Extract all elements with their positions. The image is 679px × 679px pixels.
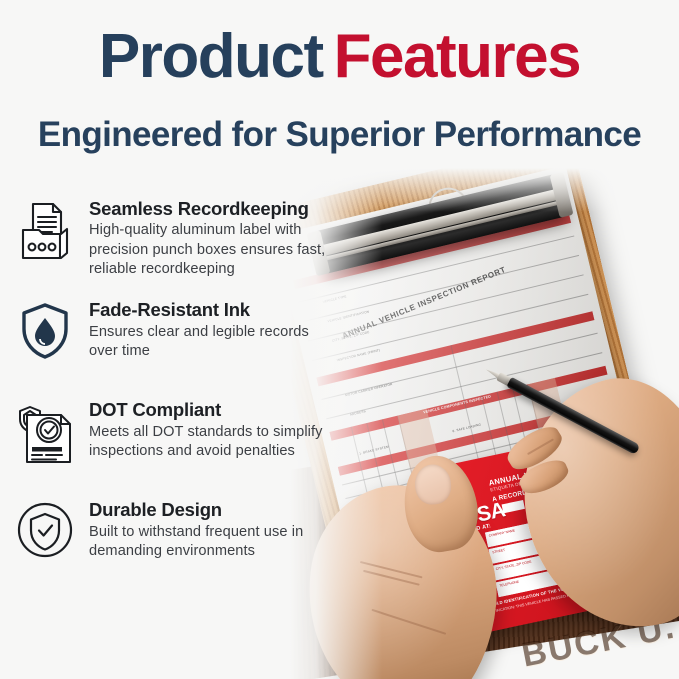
document-filebox-icon bbox=[14, 196, 76, 268]
feature-description: Built to withstand frequent use in deman… bbox=[89, 523, 341, 562]
feature-text: Fade-Resistant Ink Ensures clear and leg… bbox=[89, 297, 341, 361]
product-features-page: ProductFeatures Engineered for Superior … bbox=[0, 0, 679, 679]
page-title-word-product: Product bbox=[99, 22, 323, 91]
feature-text: DOT Compliant Meets all DOT standards to… bbox=[89, 397, 341, 461]
form-title-text: ANNUAL VEHICLE INSPECTION REPORT bbox=[341, 265, 507, 341]
feature-text: Durable Design Built to withstand freque… bbox=[89, 497, 341, 561]
page-subtitle: Engineered for Superior Performance bbox=[0, 116, 679, 155]
feature-description: Ensures clear and legible records over t… bbox=[89, 323, 341, 362]
shield-ink-drop-icon bbox=[14, 297, 76, 369]
feature-title: Durable Design bbox=[89, 499, 341, 520]
form-section-header: VEHICLE COMPONENTS INSPECTED bbox=[423, 394, 492, 414]
feature-item-dot-compliant: DOT Compliant Meets all DOT standards to… bbox=[14, 397, 354, 479]
feature-item-durable-design: Durable Design Built to withstand freque… bbox=[14, 497, 354, 579]
thumbnail bbox=[414, 463, 453, 505]
page-title: ProductFeatures bbox=[0, 26, 679, 88]
document-check-shield-icon bbox=[14, 397, 76, 469]
circle-shield-check-icon bbox=[14, 497, 76, 569]
feature-item-seamless-recordkeeping: Seamless Recordkeeping High-quality alum… bbox=[14, 196, 354, 279]
feature-list: Seamless Recordkeeping High-quality alum… bbox=[14, 196, 354, 597]
feature-text: Seamless Recordkeeping High-quality alum… bbox=[89, 196, 341, 279]
feature-title: Fade-Resistant Ink bbox=[89, 299, 341, 320]
page-title-word-features: Features bbox=[334, 22, 580, 91]
feature-description: High-quality aluminum label with precisi… bbox=[89, 221, 341, 279]
feature-title: Seamless Recordkeeping bbox=[89, 198, 341, 219]
feature-description: Meets all DOT standards to simplify insp… bbox=[89, 423, 341, 462]
feature-title: DOT Compliant bbox=[89, 399, 341, 420]
feature-item-fade-resistant-ink: Fade-Resistant Ink Ensures clear and leg… bbox=[14, 297, 354, 379]
label-checkbox-motor-carrier[interactable] bbox=[502, 500, 525, 513]
